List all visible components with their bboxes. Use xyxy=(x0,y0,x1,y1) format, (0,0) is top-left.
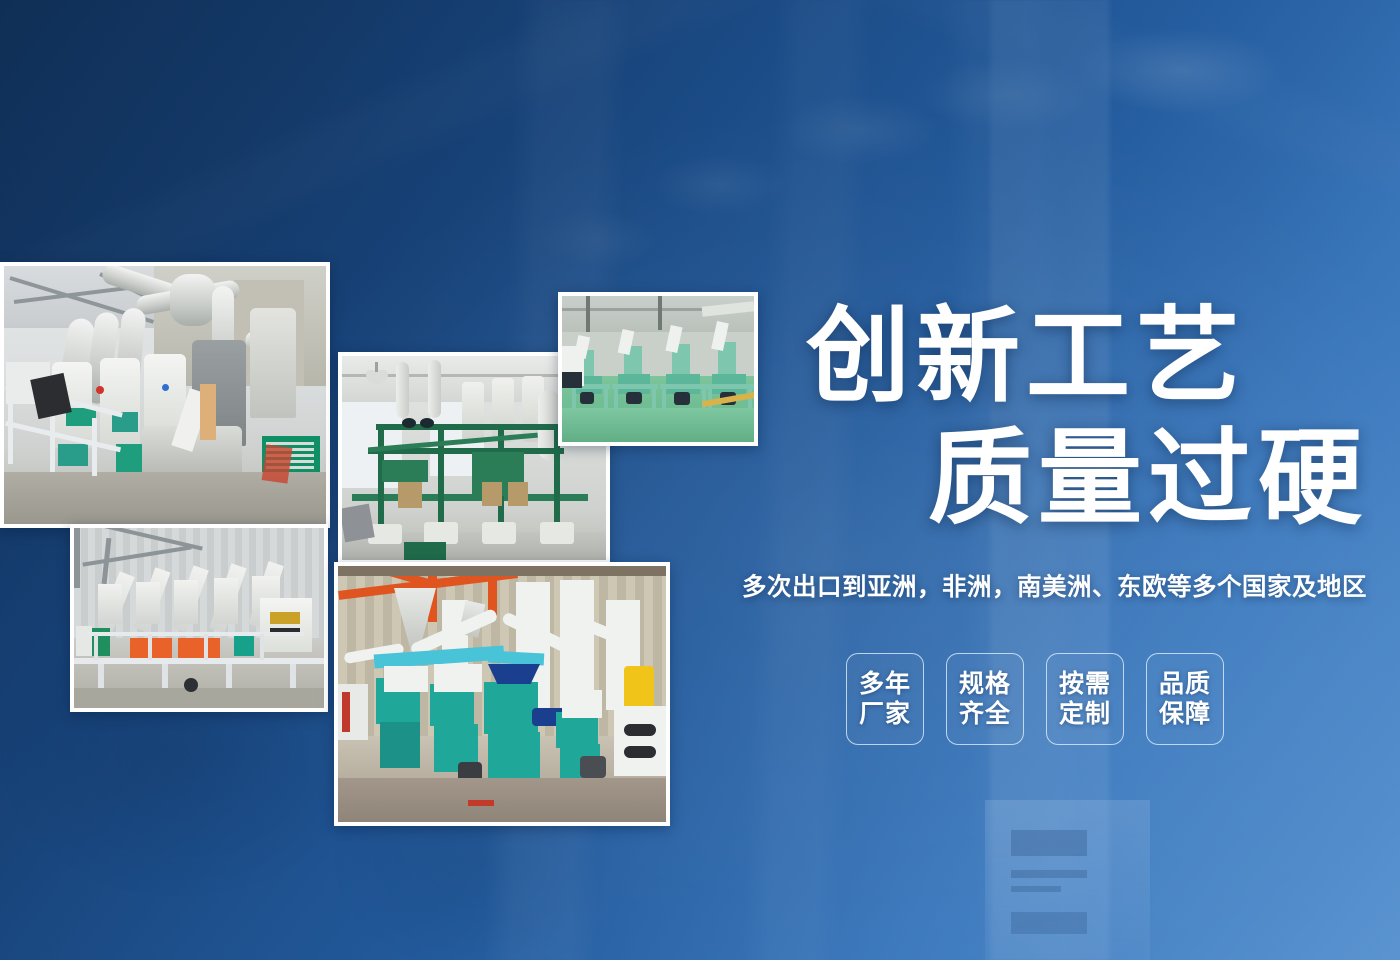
badge-custom-made[interactable]: 按需 定制 xyxy=(1046,653,1124,745)
badge-line-1: 按需 xyxy=(1059,669,1111,699)
photo-production-platform xyxy=(70,524,328,712)
badge-line-1: 多年 xyxy=(859,669,911,699)
badge-quality-guarantee[interactable]: 品质 保障 xyxy=(1146,653,1224,745)
badge-line-2: 定制 xyxy=(1059,699,1111,729)
badge-line-1: 规格 xyxy=(959,669,1011,699)
feature-badge-row: 多年 厂家 规格 齐全 按需 定制 品质 保障 xyxy=(846,653,1224,745)
badge-full-specifications[interactable]: 规格 齐全 xyxy=(946,653,1024,745)
photo-rice-mill-line xyxy=(0,262,330,528)
badge-line-2: 保障 xyxy=(1159,699,1211,729)
photo-teal-mill-plant xyxy=(334,562,670,826)
photo-mint-mill-row xyxy=(558,292,758,446)
subtitle-text: 多次出口到亚洲，非洲，南美洲、东欧等多个国家及地区 xyxy=(742,568,1400,603)
promo-banner: 创新工艺 质量过硬 多次出口到亚洲，非洲，南美洲、东欧等多个国家及地区 多年 厂… xyxy=(0,0,1400,960)
badge-years-manufacturer[interactable]: 多年 厂家 xyxy=(846,653,924,745)
badge-line-2: 齐全 xyxy=(959,699,1011,729)
badge-line-2: 厂家 xyxy=(859,699,911,729)
badge-line-1: 品质 xyxy=(1159,669,1211,699)
